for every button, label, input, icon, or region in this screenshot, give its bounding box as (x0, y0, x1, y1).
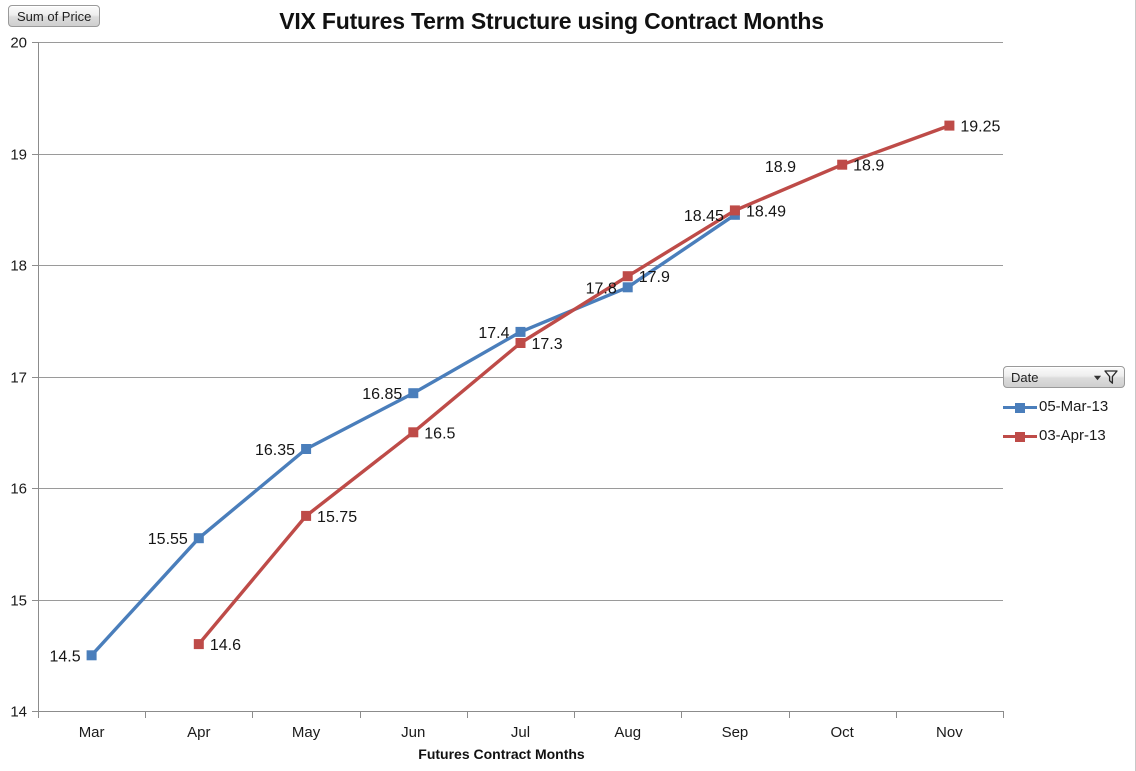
data-series-layer (87, 121, 955, 661)
y-tick-label: 19 (10, 147, 27, 164)
x-tick-label: Oct (830, 724, 854, 741)
axis-ticks (32, 43, 1004, 719)
data-point-marker[interactable] (730, 205, 740, 215)
x-tick-label: Sep (722, 724, 749, 741)
x-tick-label: Aug (614, 724, 641, 741)
y-tick-label: 20 (10, 35, 27, 52)
legend-label: 03-Apr-13 (1039, 427, 1106, 444)
series-line-2[interactable] (199, 126, 950, 645)
legend-label: 05-Mar-13 (1039, 398, 1108, 415)
data-point-marker[interactable] (194, 639, 204, 649)
data-point-marker[interactable] (516, 327, 526, 337)
pivot-legend-field-label: Date (1011, 370, 1038, 385)
x-tick-label: May (292, 724, 321, 741)
axis-lines (38, 42, 1003, 712)
y-tick-label: 14 (10, 704, 27, 721)
data-point-marker[interactable] (87, 650, 97, 660)
data-point-marker[interactable] (944, 121, 954, 131)
data-label: 14.5 (49, 648, 80, 665)
data-point-marker[interactable] (837, 160, 847, 170)
x-axis-title: Futures Contract Months (0, 746, 1003, 762)
data-label: 16.35 (255, 442, 295, 459)
data-label: 17.4 (478, 325, 509, 342)
y-tick-label: 18 (10, 258, 27, 275)
data-label: 18.9 (765, 159, 796, 176)
legend-entry-2[interactable]: 03-Apr-13 (1003, 421, 1131, 450)
data-point-marker[interactable] (623, 271, 633, 281)
data-label: 16.85 (362, 386, 402, 403)
data-point-marker[interactable] (194, 533, 204, 543)
x-tick-label: Nov (936, 724, 963, 741)
x-tick-label: Jul (511, 724, 530, 741)
data-label: 15.55 (148, 531, 188, 548)
chart-page: Sum of Price VIX Futures Term Structure … (0, 0, 1136, 771)
data-label: 17.3 (532, 336, 563, 353)
legend-marker (1015, 403, 1025, 413)
funnel-filter-icon[interactable] (1103, 369, 1119, 385)
data-point-marker[interactable] (408, 388, 418, 398)
data-point-marker[interactable] (516, 338, 526, 348)
y-tick-label: 16 (10, 481, 27, 498)
x-tick-label: Jun (401, 724, 425, 741)
chart-legend: 05-Mar-1303-Apr-13 (1003, 392, 1131, 450)
data-label: 17.8 (586, 280, 617, 297)
data-label: 16.5 (424, 425, 455, 442)
data-label: 15.75 (317, 509, 357, 526)
data-point-marker[interactable] (623, 282, 633, 292)
chevron-down-icon[interactable] (1093, 373, 1102, 382)
data-label: 17.9 (639, 269, 670, 286)
data-point-marker[interactable] (301, 444, 311, 454)
data-labels-layer: 14.515.5516.3516.8517.417.818.4514.615.7… (49, 119, 1000, 666)
x-tick-label: Mar (79, 724, 105, 741)
filter-control[interactable] (1093, 369, 1119, 385)
data-label: 18.9 (853, 158, 884, 175)
data-label: 19.25 (960, 119, 1000, 136)
y-tick-label: 15 (10, 593, 27, 610)
y-axis-tick-labels: 20191817161514 (10, 35, 27, 721)
legend-swatch-icon (1003, 429, 1037, 443)
y-tick-label: 17 (10, 370, 27, 387)
x-axis-tick-labels: MarAprMayJunJulAugSepOctNov (79, 724, 964, 741)
legend-entry-1[interactable]: 05-Mar-13 (1003, 392, 1131, 421)
data-label: 18.45 (684, 208, 724, 225)
pivot-legend-field-button[interactable]: Date (1003, 366, 1125, 388)
data-point-marker[interactable] (301, 511, 311, 521)
legend-swatch-icon (1003, 400, 1037, 414)
plot-area: 20191817161514 MarAprMayJunJulAugSepOctN… (0, 0, 1136, 771)
data-point-marker[interactable] (408, 427, 418, 437)
legend-marker (1015, 432, 1025, 442)
data-label: 18.49 (746, 203, 786, 220)
data-label: 14.6 (210, 637, 241, 654)
x-tick-label: Apr (187, 724, 210, 741)
gridlines (38, 43, 1003, 601)
